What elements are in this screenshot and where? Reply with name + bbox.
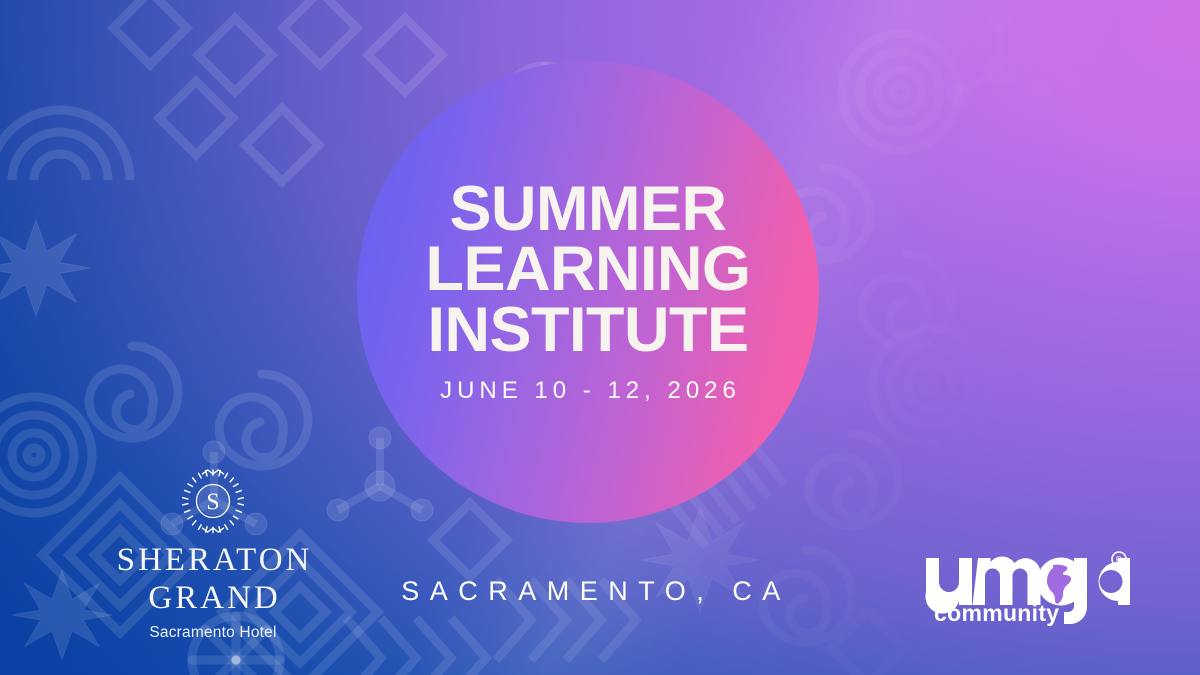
poster-canvas: SUMMER LEARNING INSTITUTE JUNE 10 - 12, … [0, 0, 1200, 675]
svg-text:S: S [206, 490, 219, 516]
sheraton-grand-logo-lockup: S SHERATON GRAND Sacramento Hotel [88, 468, 338, 642]
sheraton-name-line-1: SHERATON [88, 542, 338, 580]
svg-text:R: R [1116, 555, 1123, 565]
title-line-3: INSTITUTE [428, 300, 749, 360]
hero-text-block: SUMMER LEARNING INSTITUTE JUNE 10 - 12, … [357, 61, 819, 523]
sheraton-s-sunburst-icon: S [88, 468, 338, 534]
title-line-2: LEARNING [426, 239, 751, 299]
umoja-letter-m [973, 556, 1041, 605]
title-line-1: SUMMER [450, 179, 727, 239]
sheraton-subtitle: Sacramento Hotel [88, 624, 338, 642]
event-date: JUNE 10 - 12, 2026 [435, 377, 741, 405]
umoja-community-logo-lockup: R community [922, 548, 1132, 618]
umoja-tagline: community [934, 600, 1059, 626]
